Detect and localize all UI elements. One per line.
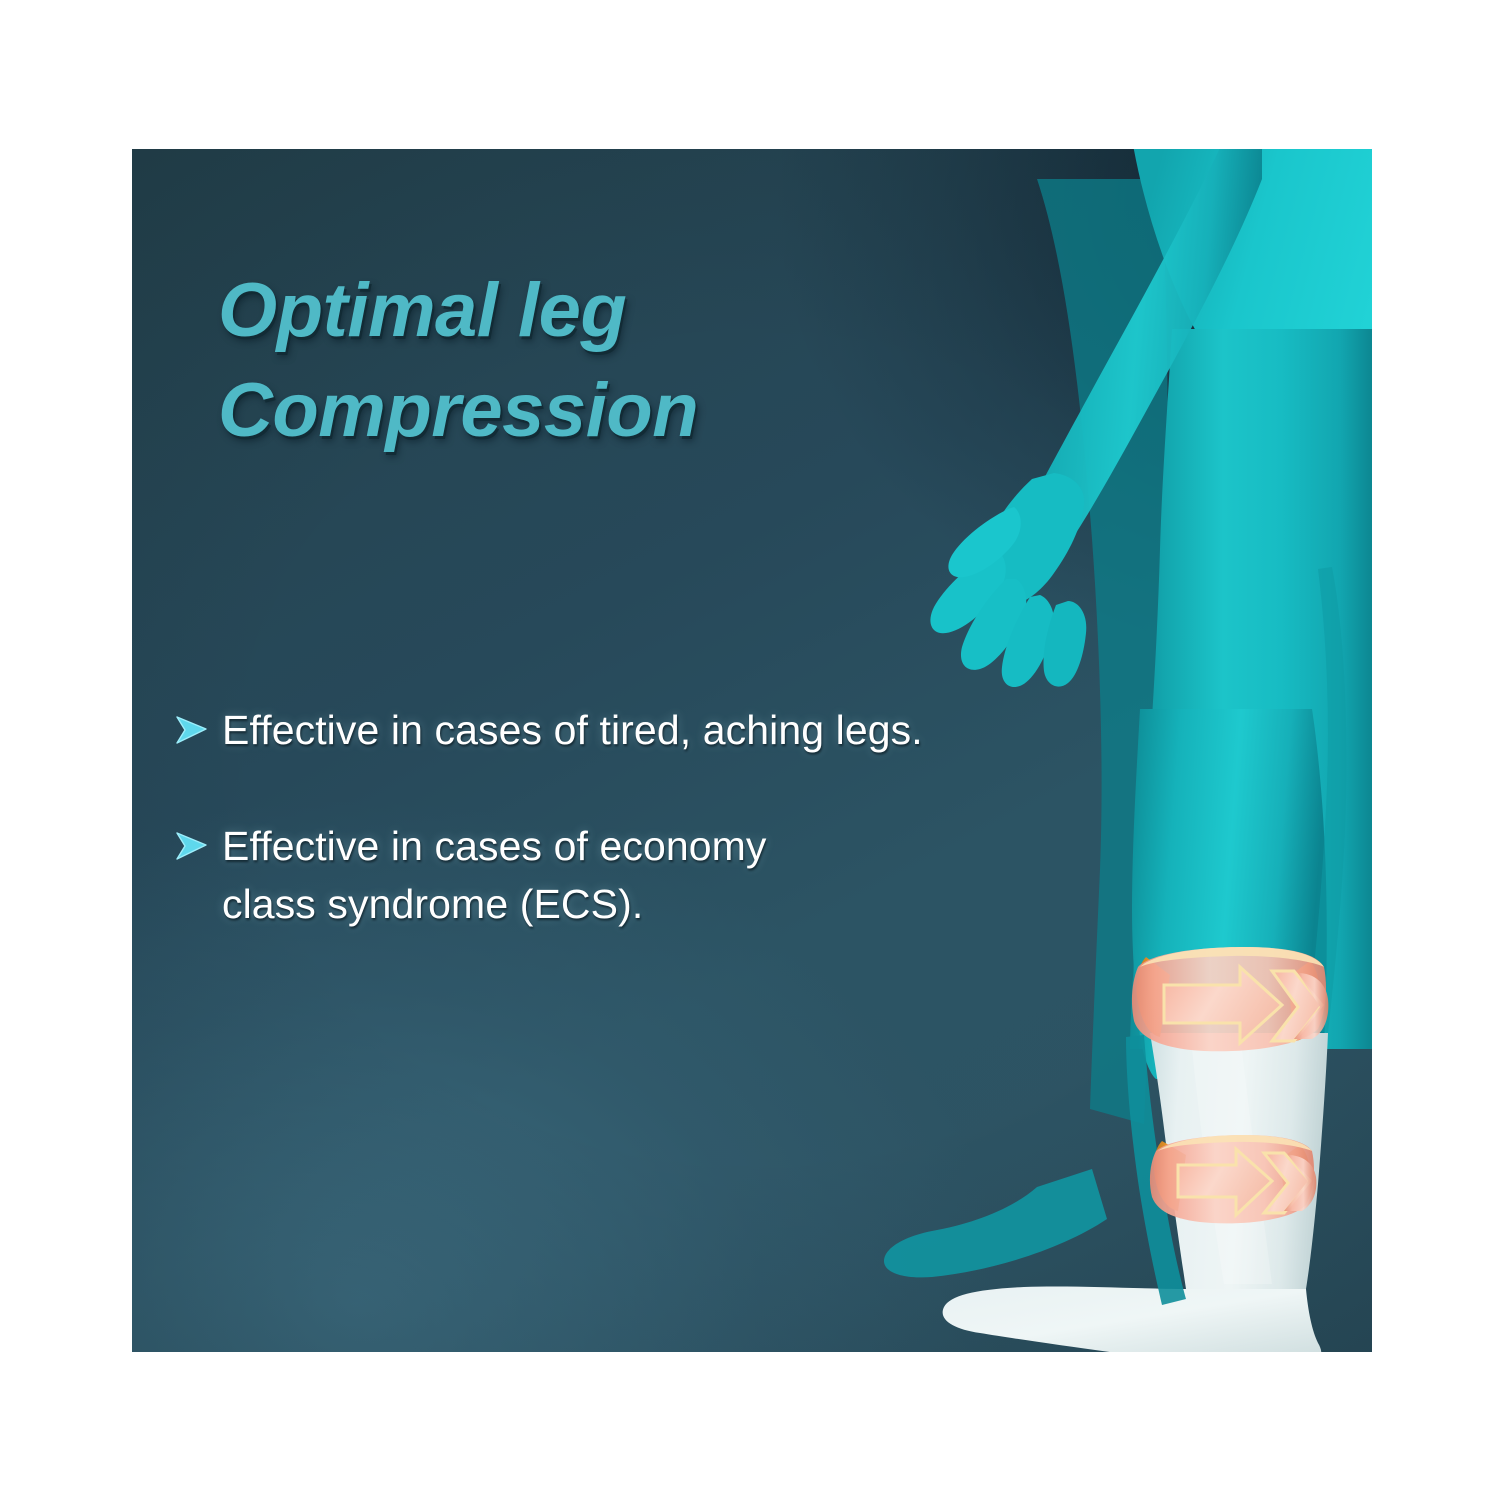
- list-item: Effective in cases of tired, aching legs…: [170, 701, 1070, 759]
- page-title: Optimal leg Compression: [218, 261, 918, 462]
- chevron-arrow-bullet-icon: [170, 825, 212, 867]
- product-marketing-image: Optimal leg Compression Effective in cas…: [0, 0, 1500, 1500]
- list-item-label: Effective in cases of economy class synd…: [222, 817, 1070, 933]
- benefits-list: Effective in cases of tired, aching legs…: [170, 701, 1070, 992]
- calf-compression-band: [1132, 947, 1328, 1051]
- ankle-compression-band: [1150, 1135, 1316, 1223]
- chevron-arrow-bullet-icon: [170, 709, 212, 751]
- list-item: Effective in cases of economy class synd…: [170, 817, 1070, 933]
- artwork-canvas: Optimal leg Compression Effective in cas…: [132, 149, 1372, 1352]
- list-item-label: Effective in cases of tired, aching legs…: [222, 701, 1070, 759]
